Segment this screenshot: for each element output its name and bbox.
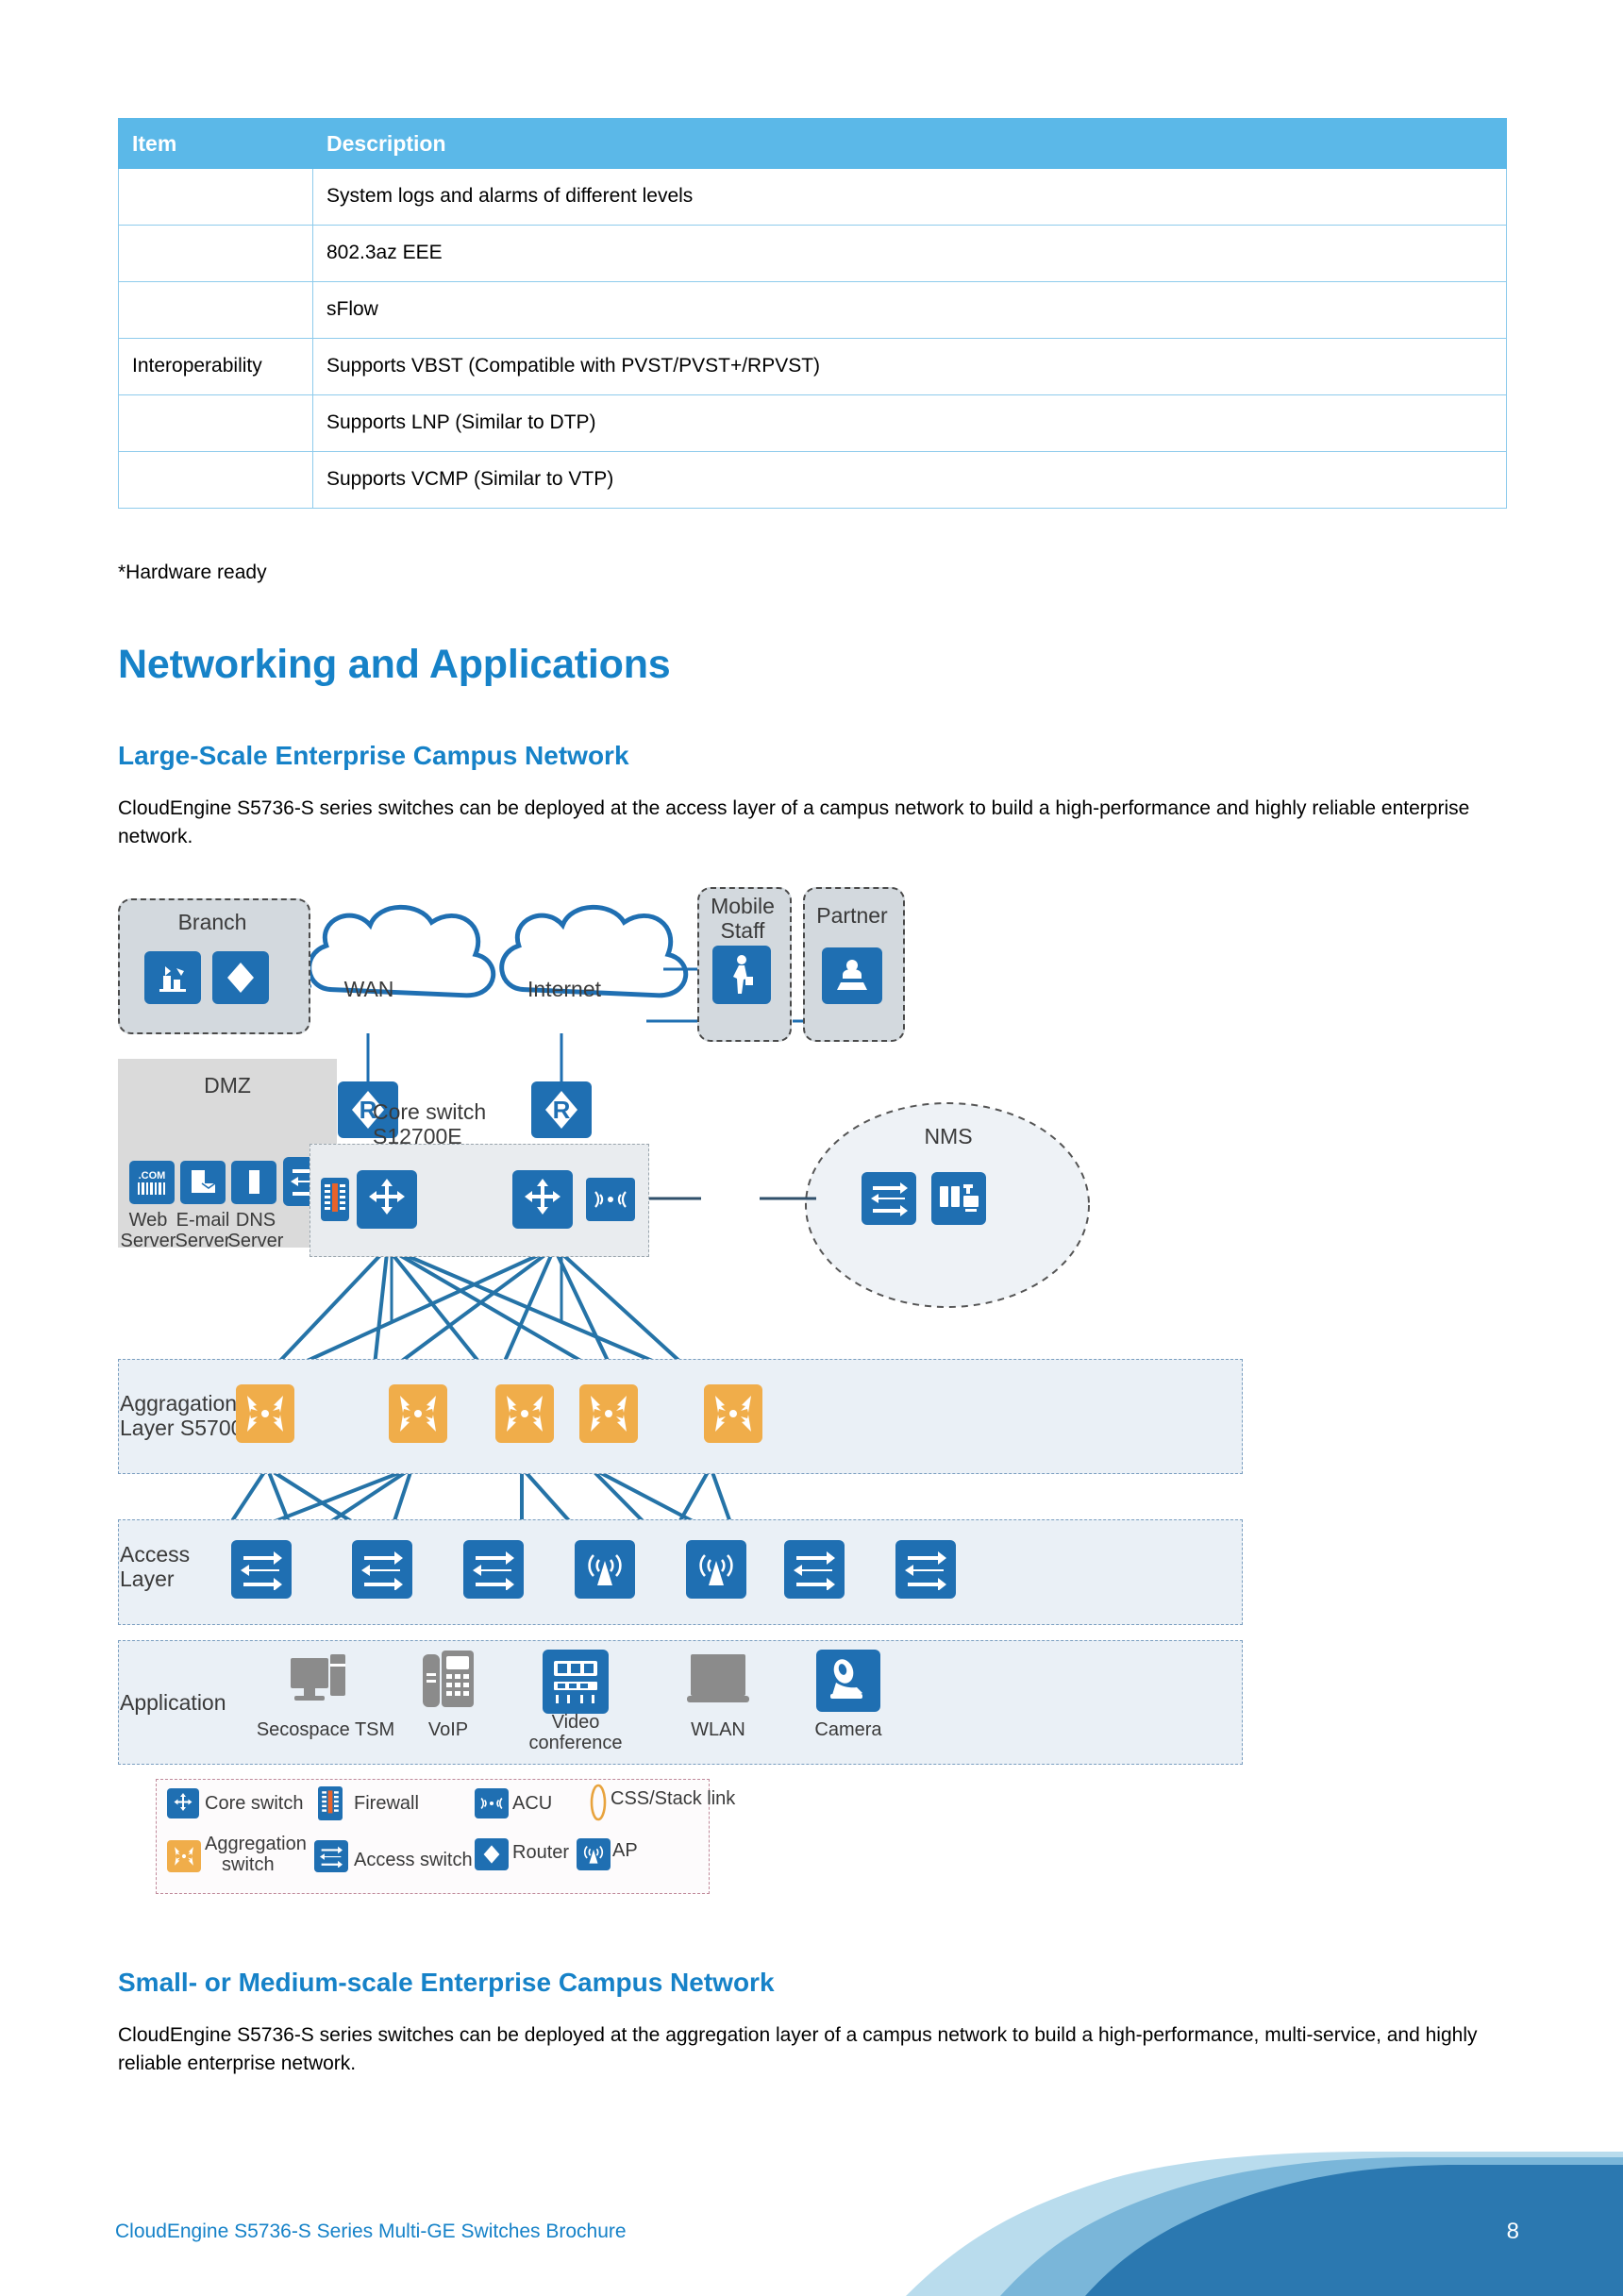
access-switch-icon-4: [784, 1540, 845, 1599]
email-server-label-line2: Server: [176, 1231, 231, 1251]
table-row: sFlow: [119, 282, 1507, 339]
wlan-label: WLAN: [663, 1719, 773, 1740]
aggregation-layer-label-line1: Aggragation: [120, 1391, 237, 1416]
ap-icon-2: [686, 1540, 746, 1599]
internet-label: Internet: [494, 978, 635, 1002]
voip-label: VoIP: [401, 1719, 495, 1740]
aggregation-switch-icon-1: [236, 1384, 294, 1443]
core-switch-label-line1: Core switch: [373, 1099, 486, 1124]
aggregation-switch-icon-legend: [167, 1840, 201, 1872]
table-cell-description: sFlow: [313, 282, 1507, 339]
camera-label: Camera: [794, 1719, 903, 1740]
paragraph-large-scale: CloudEngine S5736-S series switches can …: [118, 795, 1505, 852]
video-conference-label: Video conference: [514, 1712, 637, 1754]
table-cell-description: System logs and alarms of different leve…: [313, 169, 1507, 226]
camera-icon: [816, 1650, 880, 1712]
aggregation-layer-label-line2: Layer S5700: [120, 1416, 243, 1440]
dns-server-label-line2: Server: [228, 1231, 284, 1251]
legend-label-ap: AP: [612, 1840, 688, 1861]
table-row: Interoperability Supports VBST (Compatib…: [119, 339, 1507, 395]
legend-label-css-stack-link: CSS/Stack link: [611, 1788, 771, 1809]
core-switch-icon-2: [512, 1170, 573, 1229]
nms-server-icon: [931, 1172, 986, 1225]
dns-server-label-line1: DNS: [236, 1210, 276, 1231]
table-header-row: Item Description: [119, 119, 1507, 169]
column-header-item: Item: [119, 119, 313, 169]
web-server-icon: .COM: [129, 1161, 175, 1204]
branch-office-icon: [144, 951, 201, 1004]
nms-switch-icon: [862, 1172, 916, 1225]
secospace-tsm-label: Secospace TSM: [250, 1719, 401, 1740]
table-cell-item: [119, 395, 313, 452]
legend-label-firewall: Firewall: [354, 1793, 486, 1814]
partner-label: Partner: [803, 904, 901, 929]
paragraph-small-medium: CloudEngine S5736-S series switches can …: [118, 2021, 1505, 2079]
access-switch-icon-1: [231, 1540, 292, 1599]
aggregation-switch-icon-5: [704, 1384, 762, 1443]
secospace-tsm-icon: [286, 1650, 354, 1712]
wlan-icon: [684, 1650, 752, 1710]
dmz-label: DMZ: [118, 1074, 337, 1098]
mobile-staff-label-line2: Staff: [721, 918, 765, 943]
core-switch-label: Core switch S12700E: [373, 1100, 561, 1149]
mobile-staff-label: Mobile Staff: [697, 895, 788, 944]
access-switch-icon-3: [463, 1540, 524, 1599]
specifications-table: Item Description System logs and alarms …: [118, 118, 1507, 509]
mobile-staff-icon: [712, 946, 771, 1004]
access-layer-label: Access Layer: [120, 1543, 233, 1592]
page-title: Networking and Applications: [118, 642, 671, 688]
network-topology-diagram: Branch WAN Internet Mobile Staff Partner…: [118, 878, 1241, 1949]
nms-label: NMS: [873, 1125, 1024, 1149]
table-cell-description: Supports LNP (Similar to DTP): [313, 395, 1507, 452]
email-server-icon: [180, 1161, 226, 1204]
web-server-label: Web Server: [118, 1210, 178, 1252]
table-cell-item: [119, 282, 313, 339]
aggregation-switch-icon-4: [579, 1384, 638, 1443]
legend-label-aggregation-line1: Aggregation: [205, 1834, 307, 1854]
partner-user-icon: [822, 947, 882, 1004]
core-switch-label-line2: S12700E: [373, 1124, 462, 1148]
table-cell-item: [119, 169, 313, 226]
subsection-title-small-medium: Small- or Medium-scale Enterprise Campus…: [118, 1968, 775, 1998]
email-server-label-line1: E-mail: [176, 1210, 230, 1231]
mobile-staff-label-line1: Mobile: [711, 894, 775, 918]
branch-label: Branch: [118, 911, 307, 935]
acu-icon-legend: [475, 1788, 509, 1818]
access-switch-icon-legend: [314, 1840, 348, 1872]
firewall-icon-legend: [318, 1786, 343, 1820]
firewall-icon: [321, 1178, 349, 1221]
subsection-title-large-scale: Large-Scale Enterprise Campus Network: [118, 741, 629, 771]
aggregation-switch-icon-3: [495, 1384, 554, 1443]
footer-title: CloudEngine S5736-S Series Multi-GE Swit…: [115, 2221, 627, 2243]
legend-label-aggregation-line2: switch: [222, 1854, 275, 1875]
router-icon: [212, 951, 269, 1004]
hardware-ready-note: *Hardware ready: [118, 561, 267, 584]
video-conference-label-line1: Video: [552, 1712, 600, 1733]
ap-icon-1: [575, 1540, 635, 1599]
table-cell-description: 802.3az EEE: [313, 226, 1507, 282]
email-server-label: E-mail Server: [173, 1210, 233, 1252]
table-row: System logs and alarms of different leve…: [119, 169, 1507, 226]
table-cell-description: Supports VBST (Compatible with PVST/PVST…: [313, 339, 1507, 395]
table-cell-item: [119, 452, 313, 509]
ap-icon-legend: [577, 1838, 611, 1870]
table-cell-description: Supports VCMP (Similar to VTP): [313, 452, 1507, 509]
access-switch-icon-5: [895, 1540, 956, 1599]
table-row: Supports LNP (Similar to DTP): [119, 395, 1507, 452]
css-stack-link-icon-legend: [584, 1784, 612, 1821]
svg-text:.COM: .COM: [139, 1170, 166, 1182]
table-row: Supports VCMP (Similar to VTP): [119, 452, 1507, 509]
access-layer-label-line1: Access: [120, 1542, 190, 1567]
video-conference-icon: [543, 1650, 609, 1714]
column-header-description: Description: [313, 119, 1507, 169]
aggregation-switch-icon-2: [389, 1384, 447, 1443]
dns-server-label: DNS Server: [226, 1210, 286, 1252]
application-layer-label: Application: [120, 1691, 252, 1716]
dns-server-icon: [231, 1161, 276, 1204]
video-conference-label-line2: conference: [529, 1733, 623, 1753]
table-cell-item: [119, 226, 313, 282]
core-switch-icon-1: [357, 1170, 417, 1229]
core-switch-icon-legend: [167, 1788, 199, 1818]
router-icon-legend: [475, 1838, 509, 1870]
voip-icon: [420, 1648, 477, 1714]
acu-icon: [586, 1178, 635, 1221]
wan-label: WAN: [303, 978, 435, 1002]
page-footer: CloudEngine S5736-S Series Multi-GE Swit…: [0, 2150, 1623, 2296]
access-layer-label-line2: Layer: [120, 1567, 175, 1591]
web-server-label-line1: Web: [129, 1210, 168, 1231]
web-server-label-line2: Server: [121, 1231, 176, 1251]
access-switch-icon-2: [352, 1540, 412, 1599]
page-number: 8: [1507, 2219, 1519, 2245]
table-cell-item: Interoperability: [119, 339, 313, 395]
table-row: 802.3az EEE: [119, 226, 1507, 282]
